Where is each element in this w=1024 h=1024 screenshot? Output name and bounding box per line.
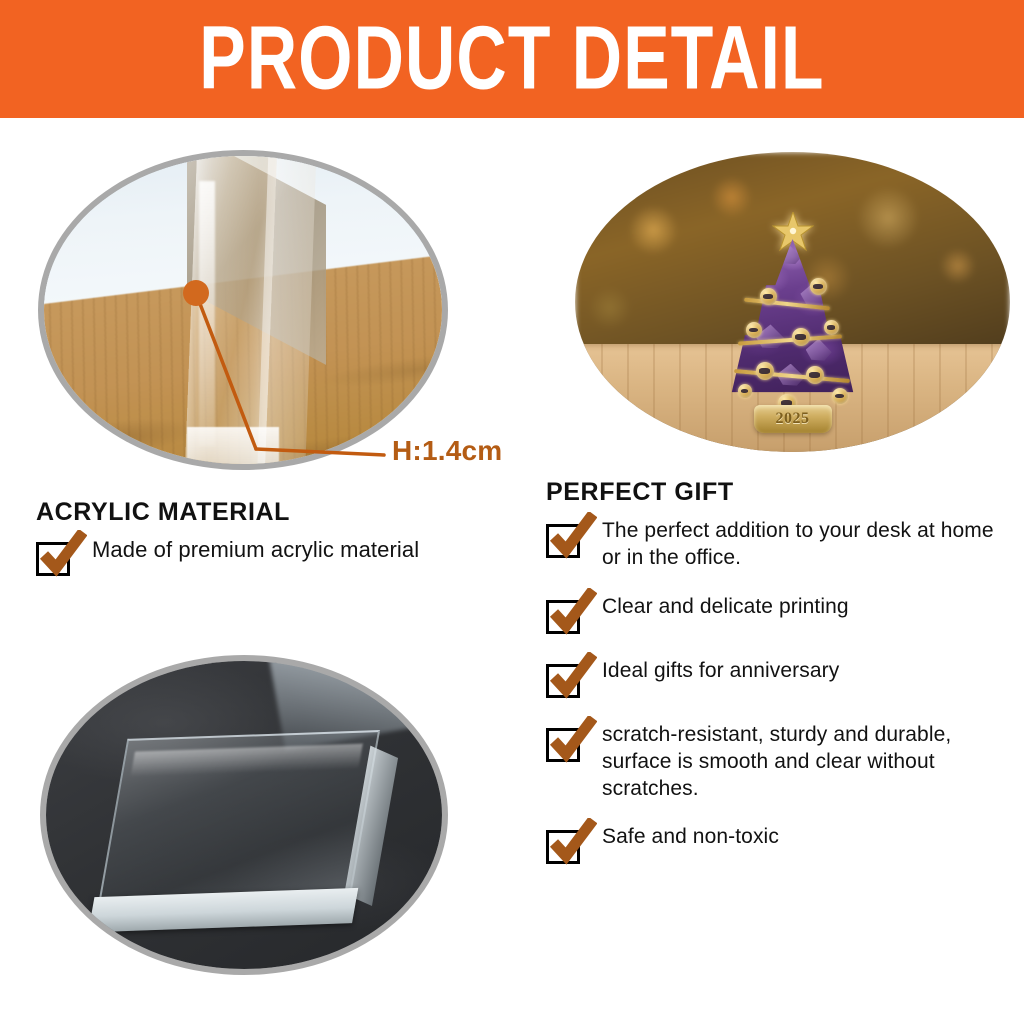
list-item-label: Ideal gifts for anniversary (602, 658, 1006, 685)
check-icon (545, 716, 597, 766)
photo-crystal-tree: 2025 (575, 152, 1010, 452)
photo-acrylic-edge (38, 150, 448, 470)
acrylic-block-object (99, 730, 381, 900)
section-title-acrylic-material: ACRYLIC MATERIAL (36, 498, 290, 527)
checkbox-icon[interactable] (546, 520, 586, 560)
list-item-label: scratch-resistant, sturdy and durable, s… (602, 722, 1006, 803)
list-item-label: Made of premium acrylic material (92, 536, 506, 564)
section-title-perfect-gift: PERFECT GIFT (546, 478, 734, 507)
feature-list-acrylic-material: Made of premium acrylic material (36, 536, 506, 600)
name-bauble (792, 328, 810, 346)
checkbox-icon[interactable] (546, 724, 586, 764)
list-item: scratch-resistant, sturdy and durable, s… (546, 722, 1006, 803)
photo-crystal-tree-image: 2025 (575, 152, 1010, 452)
acrylic-slab-highlight (199, 181, 215, 446)
crystal-facet (806, 339, 832, 361)
check-icon (545, 818, 597, 868)
checkbox-icon[interactable] (36, 538, 76, 578)
list-item: Ideal gifts for anniversary (546, 658, 1006, 700)
name-bauble (746, 322, 762, 338)
dimension-label: H:1.4cm (392, 435, 502, 467)
acrylic-slab-base-reflection (187, 427, 279, 464)
checkbox-icon[interactable] (546, 596, 586, 636)
header-banner: PRODUCT DETAIL (0, 0, 1024, 118)
photo-acrylic-block (40, 655, 448, 975)
list-item: Safe and non-toxic (546, 824, 1006, 866)
photo-acrylic-block-image (46, 661, 442, 969)
name-bauble (810, 278, 827, 295)
tree-base: 2025 (754, 405, 832, 433)
list-item: The perfect addition to your desk at hom… (546, 518, 1006, 572)
feature-list-perfect-gift: The perfect addition to your desk at hom… (546, 518, 1006, 888)
name-bauble (760, 288, 777, 305)
page-title: PRODUCT DETAIL (199, 14, 824, 104)
checkbox-icon[interactable] (546, 660, 586, 700)
list-item-label: Clear and delicate printing (602, 594, 1006, 621)
crystal-tree-figure: 2025 (718, 216, 868, 431)
wood-table-scene (44, 156, 442, 464)
name-bauble (832, 388, 848, 404)
product-detail-page: PRODUCT DETAIL (0, 0, 1024, 1024)
name-bauble (738, 384, 752, 398)
photo-acrylic-edge-image (44, 156, 442, 464)
list-item-label: Safe and non-toxic (602, 824, 1006, 851)
name-bauble (756, 362, 774, 380)
list-item: Clear and delicate printing (546, 594, 1006, 636)
checkbox-icon[interactable] (546, 826, 586, 866)
check-icon (545, 588, 597, 638)
check-icon (545, 512, 597, 562)
base-year-text: 2025 (776, 410, 810, 428)
name-bauble (806, 366, 824, 384)
crystal-facet (745, 267, 771, 289)
check-icon (545, 652, 597, 702)
check-icon (35, 530, 87, 580)
list-item-label: The perfect addition to your desk at hom… (602, 518, 1006, 572)
name-bauble (824, 320, 839, 335)
list-item: Made of premium acrylic material (36, 536, 506, 578)
